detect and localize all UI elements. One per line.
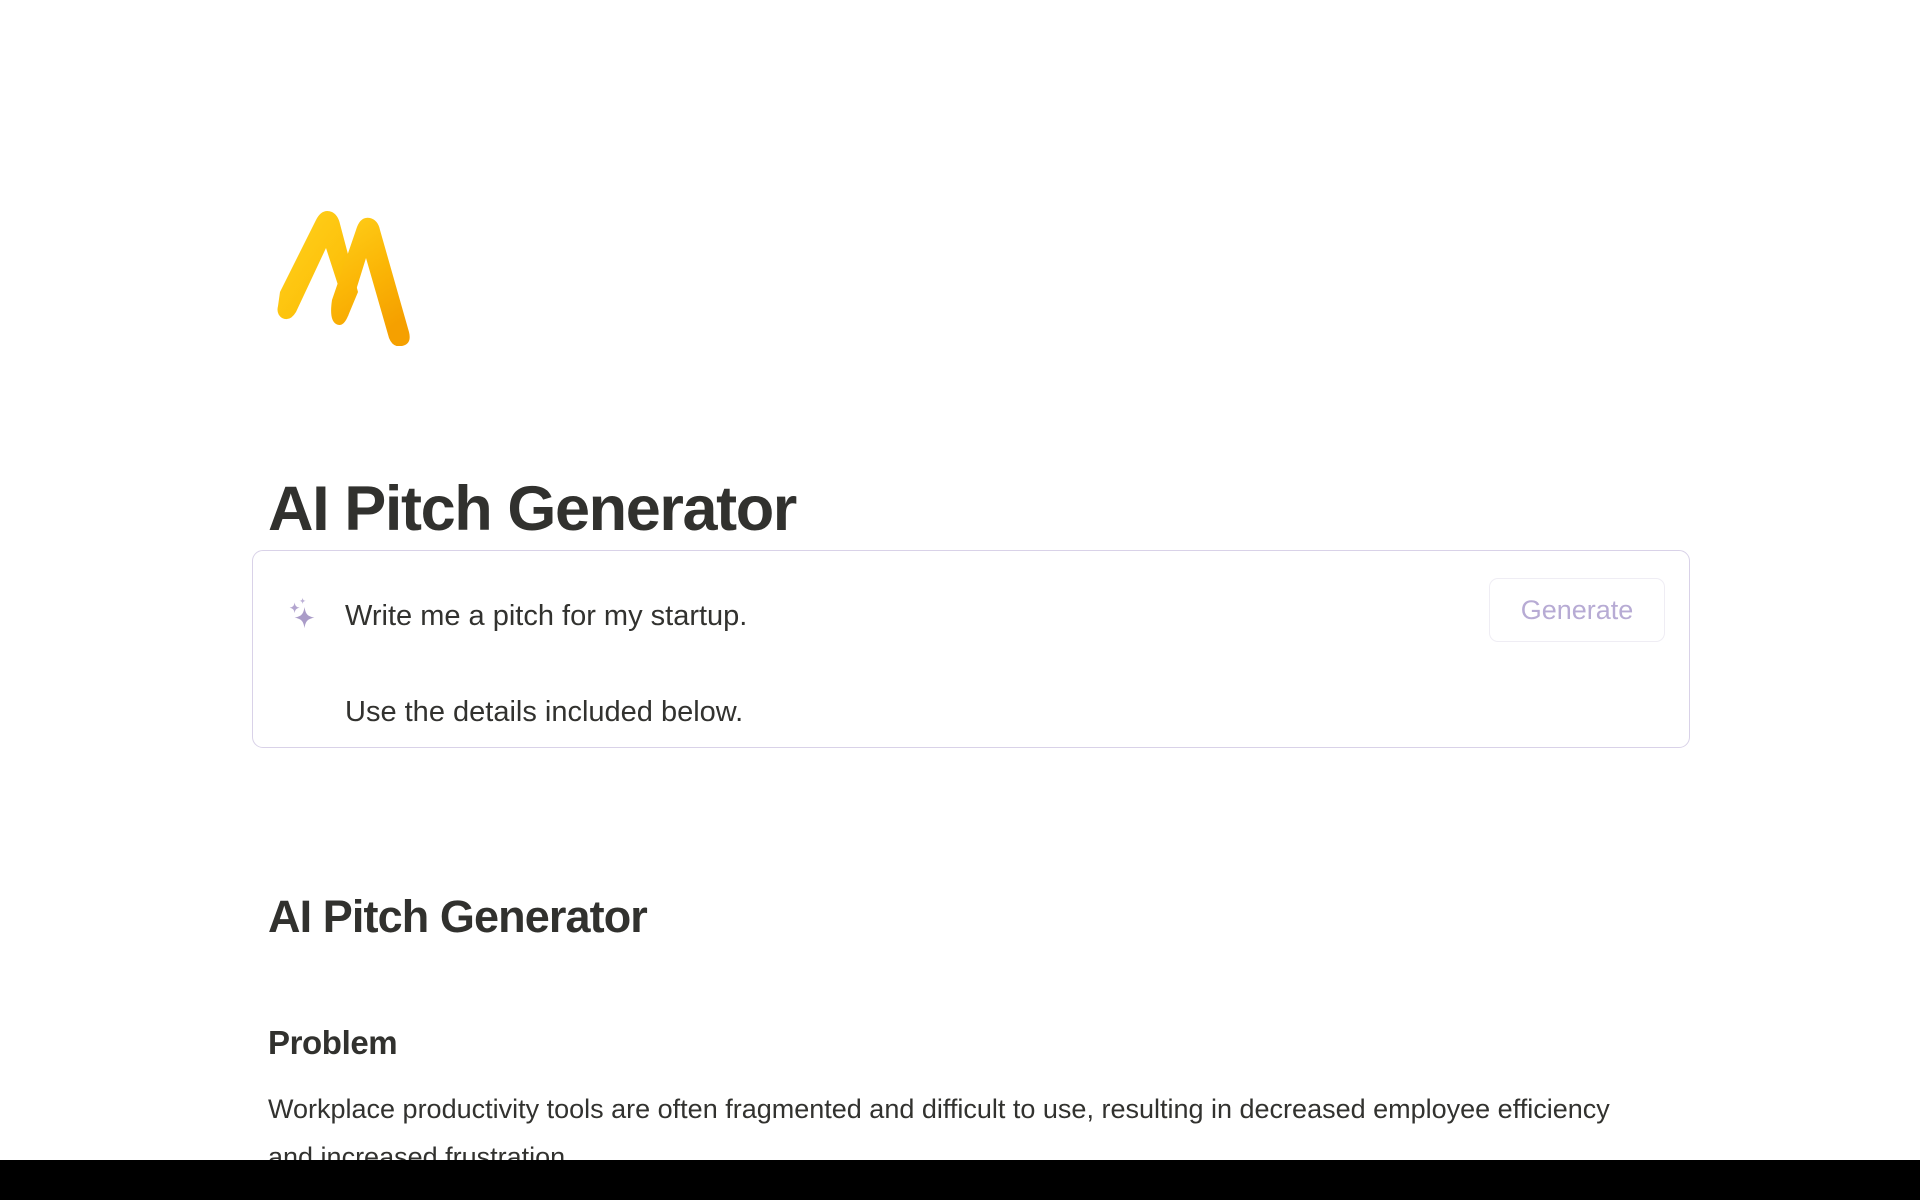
sparkle-icon [283, 595, 323, 635]
prompt-text-line-1[interactable]: Write me a pitch for my startup. [345, 597, 747, 635]
prompt-card-body: Write me a pitch for my startup. Use the… [253, 551, 1689, 747]
mountain-m-logo-icon [270, 196, 430, 346]
prompt-text-line-2[interactable]: Use the details included below. [345, 693, 743, 731]
page-title: AI Pitch Generator [268, 476, 796, 542]
app-root: AI Pitch Generator Write me a pitch for … [0, 0, 1920, 1200]
result-section-heading-problem: Problem [268, 1023, 397, 1063]
result-title: AI Pitch Generator [268, 892, 647, 942]
bottom-letterbox-bar [0, 1160, 1920, 1200]
prompt-card[interactable]: Write me a pitch for my startup. Use the… [252, 550, 1690, 748]
generate-button[interactable]: Generate [1489, 578, 1665, 642]
